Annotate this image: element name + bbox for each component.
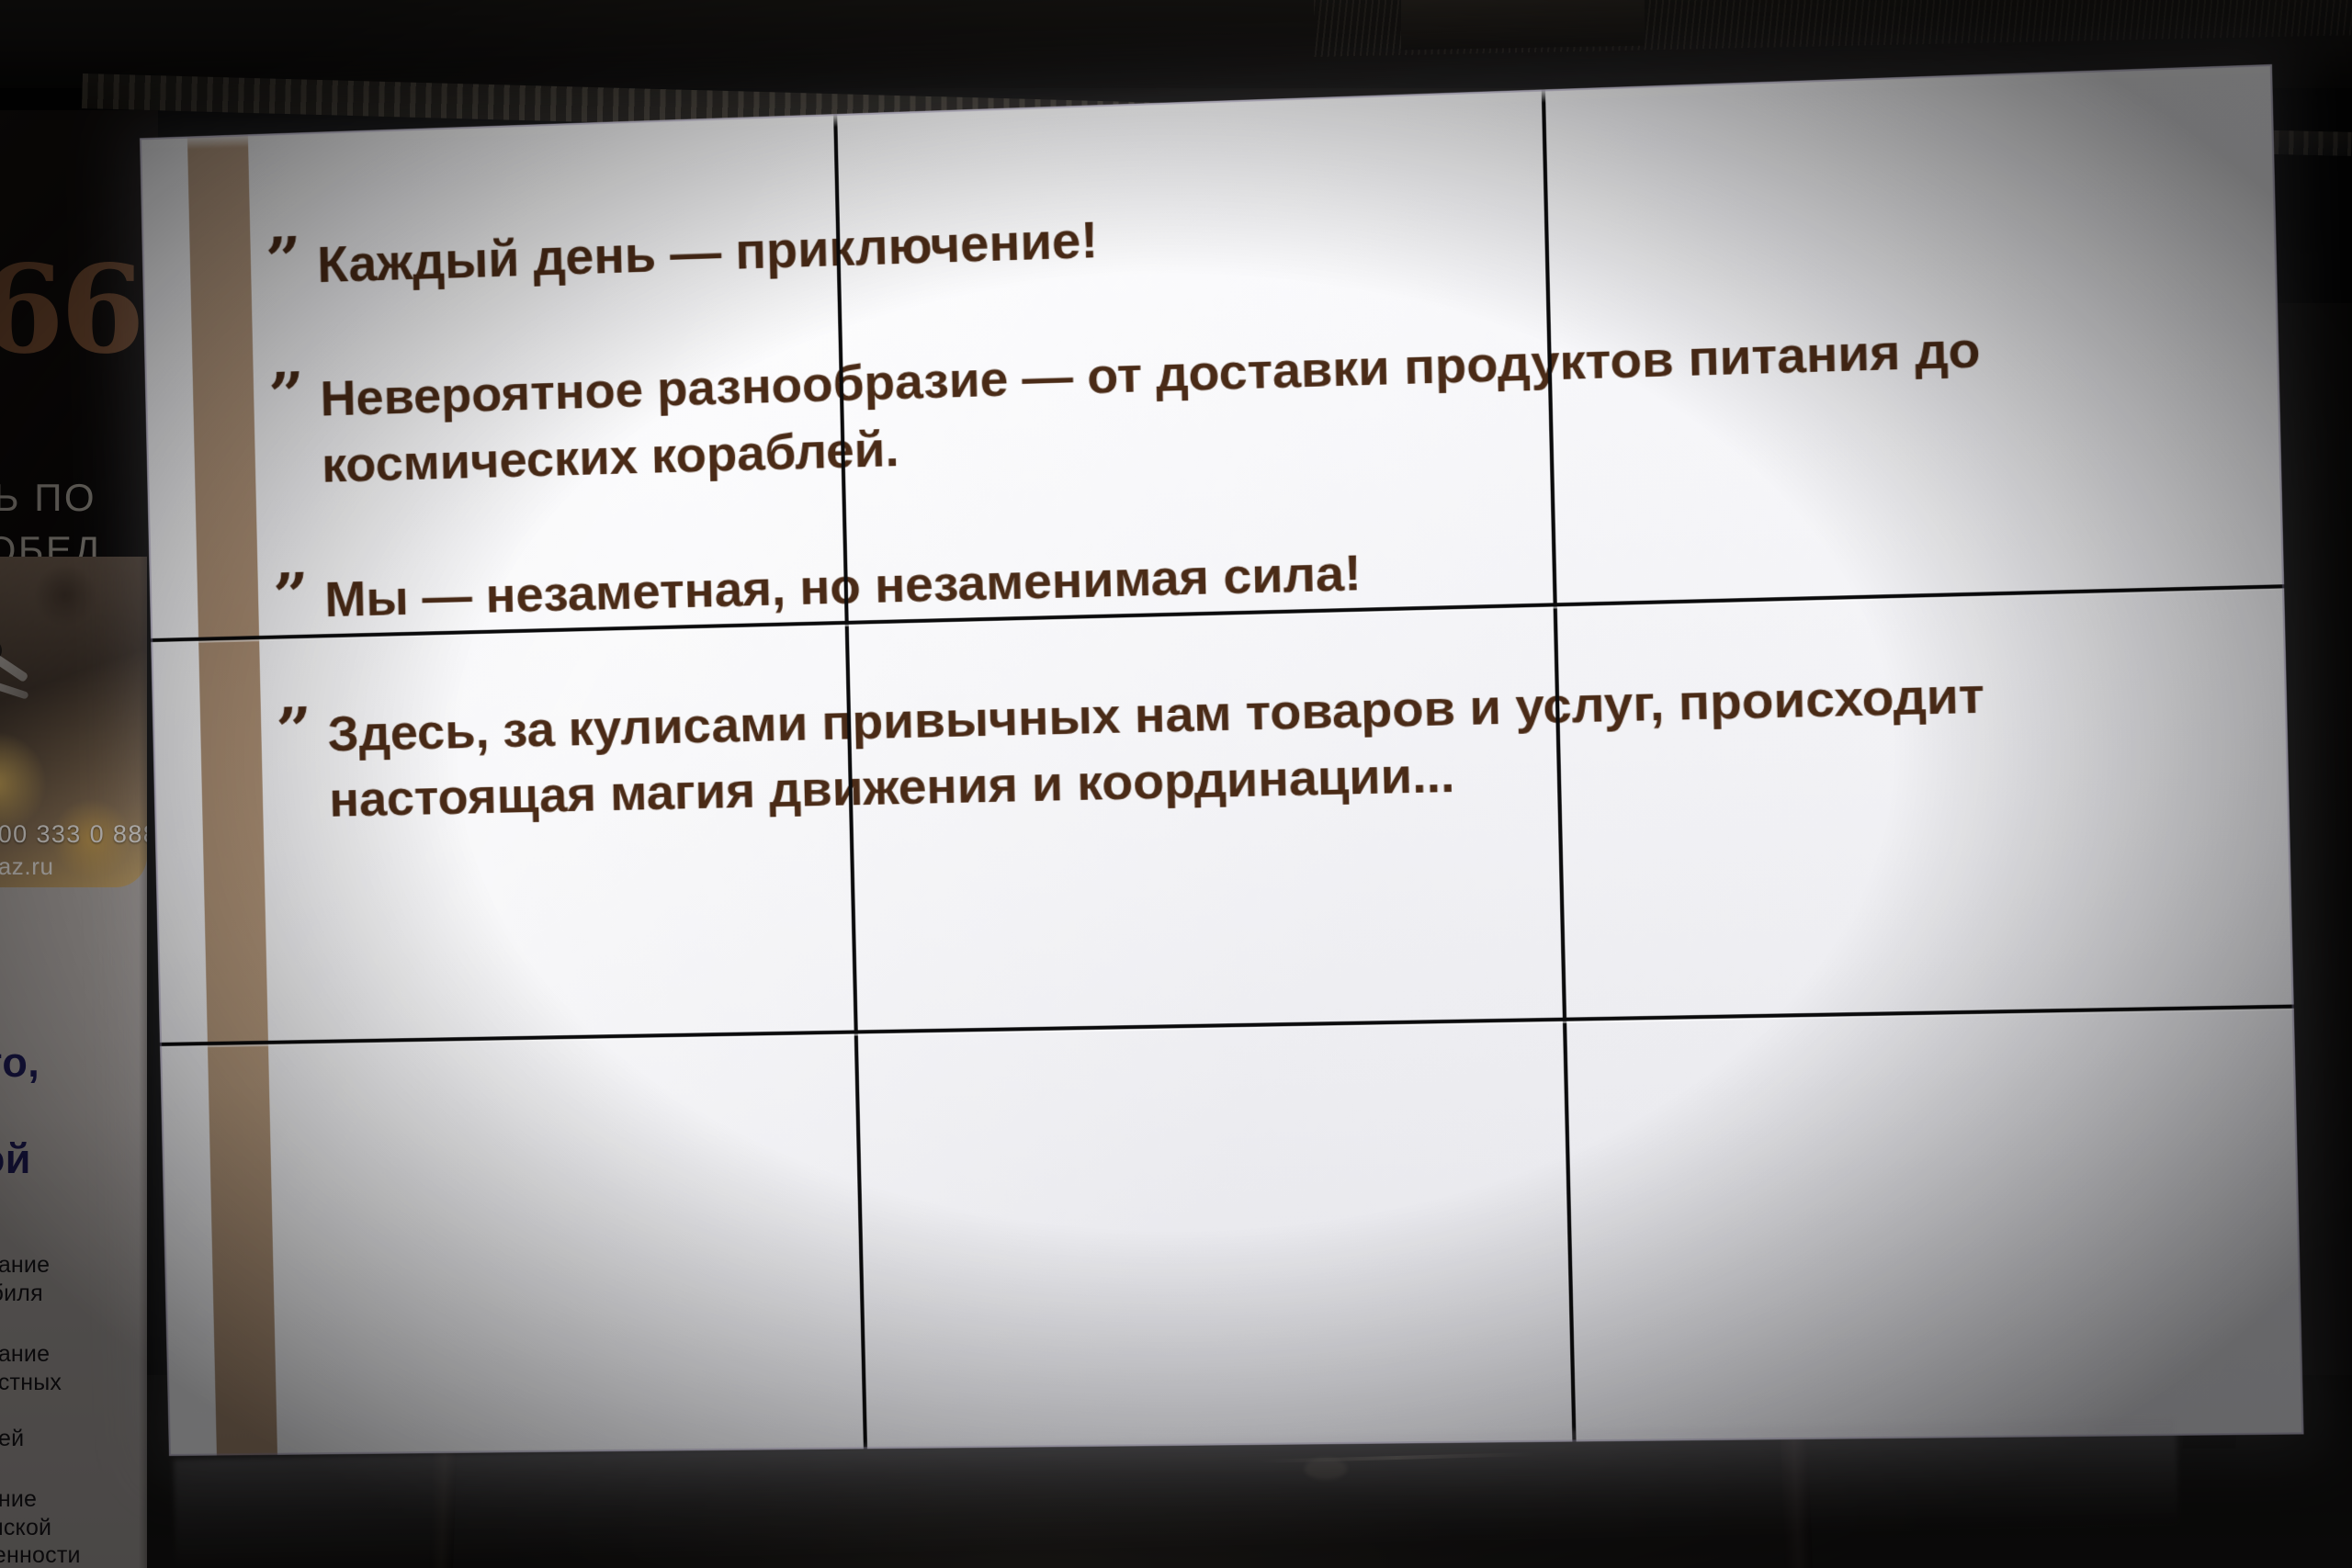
product-line: хование [0, 1485, 147, 1514]
slide-content: ” Каждый день — приключение! ” Невероятн… [140, 64, 2304, 1456]
ceiling-duct-box [1401, 0, 1645, 50]
quote-banner: 66 ШЬ ПО ПОБЕД ОСТОЕВС [0, 110, 158, 565]
bullet-text: Невероятное разнообразие — от доставки п… [320, 310, 2204, 500]
product-line: жданской [0, 1514, 147, 1542]
list-item: хование жданской тственности [0, 1485, 147, 1568]
sogaz-phone-number: 8 800 333 0 888 [0, 820, 147, 849]
sogaz-headline-line-1: рого, [0, 1039, 40, 1087]
slide-bullet-list: ” Каждый день — приключение! ” Невероятн… [316, 170, 2211, 834]
quote-mark-icon: ” [272, 564, 304, 627]
list-item: ” Невероятное разнообразие — от доставки… [320, 310, 2204, 500]
list-item: ” Здесь, за кулисами привычных нам товар… [327, 657, 2211, 834]
list-item: ахование омобиля [0, 1251, 147, 1307]
video-wall-wrapper: ” Каждый день — приключение! ” Невероятн… [0, 0, 2352, 1568]
banner-edge-shadow [139, 557, 147, 1568]
video-wall[interactable]: ” Каждый день — приключение! ” Невероятн… [140, 64, 2304, 1456]
photo-arm-shape [0, 631, 28, 682]
sogaz-banner: 8 800 333 0 888 sogaz.ru рого, итой ахов… [0, 557, 147, 1568]
list-item: ” Мы — незаметная, но незаменимая сила! [324, 517, 2208, 633]
sogaz-product-list: ахование омобиля ахование есчастных чаев… [0, 1251, 147, 1568]
product-line: омобиля [0, 1280, 147, 1308]
quote-mark-icon: ” [265, 229, 297, 292]
microphone-base [1305, 1458, 1347, 1480]
bullet-text: Каждый день — приключение! [316, 170, 2199, 299]
quote-mark-icon: ” [276, 699, 308, 762]
slide-accent-stripe [187, 134, 277, 1455]
list-item: ахование есчастных чаев лезней [0, 1340, 147, 1452]
quote-banner-line-1: ШЬ ПО [0, 476, 96, 520]
product-line: ахование [0, 1251, 147, 1280]
product-line: тственности [0, 1541, 147, 1568]
sogaz-headline-line-2: итой [0, 1135, 31, 1183]
product-line: ахование [0, 1340, 147, 1369]
product-line: есчастных [0, 1369, 147, 1397]
bullet-text: Здесь, за кулисами привычных нам товаров… [327, 657, 2211, 834]
sogaz-website-url[interactable]: sogaz.ru [0, 852, 54, 881]
list-item: ” Каждый день — приключение! [316, 170, 2199, 299]
product-line: лезней [0, 1425, 147, 1453]
scene-root: 66 ШЬ ПО ПОБЕД ОСТОЕВС 8 800 333 0 888 s… [0, 0, 2352, 1568]
quote-marks-glyph: 66 [0, 266, 141, 354]
product-line: чаев [0, 1396, 147, 1425]
quote-mark-icon: ” [267, 364, 300, 427]
bullet-text: Мы — незаметная, но незаменимая сила! [324, 517, 2208, 633]
